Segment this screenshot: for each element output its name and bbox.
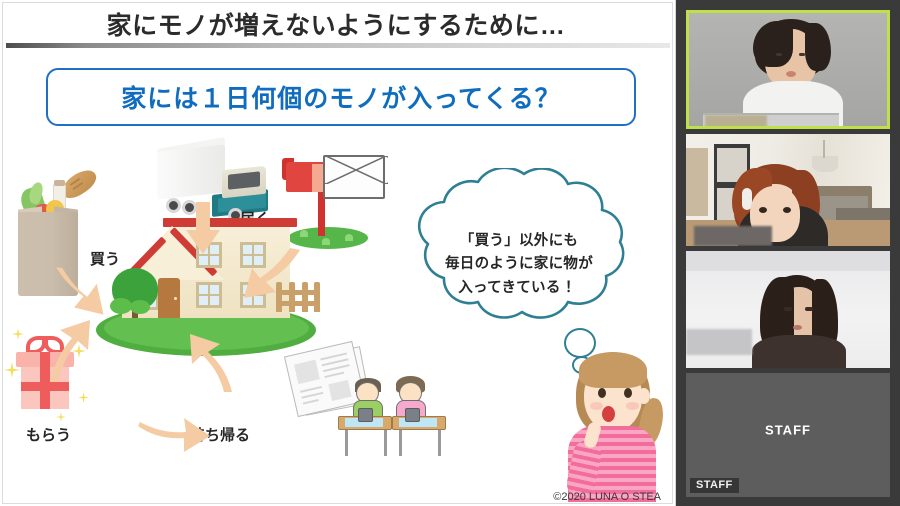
question-text: 家には１日何個のモノが入ってくる？ [121, 79, 561, 115]
slide-title: 家にモノが増えないようにするために… [0, 5, 672, 43]
video-tile-4[interactable]: STAFF STAFF [686, 373, 890, 497]
thought-bubble-text: 「買う」以外にも 毎日のように家に物が 入ってきている ！ [426, 230, 612, 300]
video-tile-3[interactable] [686, 251, 890, 368]
video-participant-panel: STAFF STAFF [676, 0, 900, 506]
thought-tail-large [564, 328, 596, 358]
copyright-notice: ©2020 LUNA O STEA [0, 491, 661, 503]
title-divider [6, 43, 670, 48]
slide-illustration: 買う もらう [0, 130, 676, 506]
thought-bubble: 「買う」以外にも 毎日のように家に物が 入ってきている ！ [382, 168, 650, 364]
presentation-slide: 家にモノが増えないようにするために… 家には１日何個のモノが入ってくる？ 買う [0, 0, 676, 506]
label-buy: 買う [90, 248, 120, 269]
envelope-icon [323, 155, 385, 199]
video-tile-4-name-badge: STAFF [690, 478, 739, 493]
video-tile-4-placeholder: STAFF [686, 423, 890, 438]
video-tile-1[interactable] [686, 10, 890, 129]
question-callout-box: 家には１日何個のモノが入ってくる？ [46, 68, 636, 126]
screen-root: 家にモノが増えないようにするために… 家には１日何個のモノが入ってくる？ 買う [0, 0, 900, 506]
label-bring-home: 持ち帰る [190, 424, 250, 445]
label-receive: もらう [26, 424, 71, 445]
video-tile-2[interactable] [686, 134, 890, 246]
